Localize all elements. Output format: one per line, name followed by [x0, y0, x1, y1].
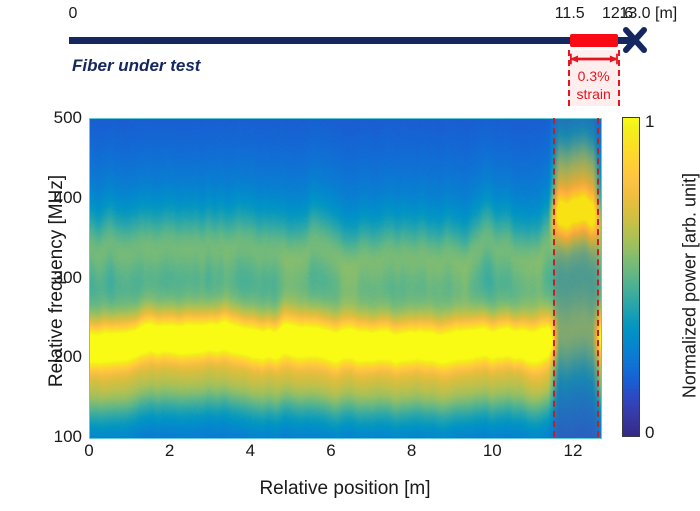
fiber-line	[69, 37, 635, 44]
x-tick-label: 12	[553, 441, 593, 461]
strain-word-label: strain	[568, 86, 620, 102]
figure-root: 0 11.5 12.6 13.0 [m] Fiber under test 0.…	[0, 0, 700, 511]
schematic-tick-0: 0	[43, 6, 103, 22]
strain-end-dashed-line	[597, 118, 599, 437]
strained-fiber-segment	[570, 34, 618, 47]
schematic-unit-label: [m]	[655, 6, 695, 22]
x-tick-label: 4	[230, 441, 270, 461]
heatmap-plot-area	[89, 118, 602, 439]
colorbar-gradient	[623, 118, 639, 436]
x-tick-label: 2	[150, 441, 190, 461]
x-tick-label: 8	[392, 441, 432, 461]
strain-value-label: 0.3%	[568, 68, 620, 84]
colorbar-title: Normalized power [arb. unit]	[680, 121, 700, 451]
fiber-under-test-label: Fiber under test	[72, 56, 200, 76]
colorbar-min-label: 0	[645, 424, 654, 441]
colorbar	[622, 117, 640, 437]
colorbar-max-label: 1	[645, 113, 654, 130]
x-tick-label: 10	[472, 441, 512, 461]
brillouin-gain-heatmap	[90, 119, 601, 438]
fiber-end-cross-icon	[623, 27, 647, 53]
strain-start-dashed-line	[553, 118, 555, 437]
x-tick-label: 0	[69, 441, 109, 461]
y-axis-title: Relative frequency [MHz]	[46, 116, 68, 446]
strain-span-arrow-icon	[570, 53, 618, 65]
x-tick-label: 6	[311, 441, 351, 461]
x-axis-title: Relative position [m]	[0, 478, 690, 500]
